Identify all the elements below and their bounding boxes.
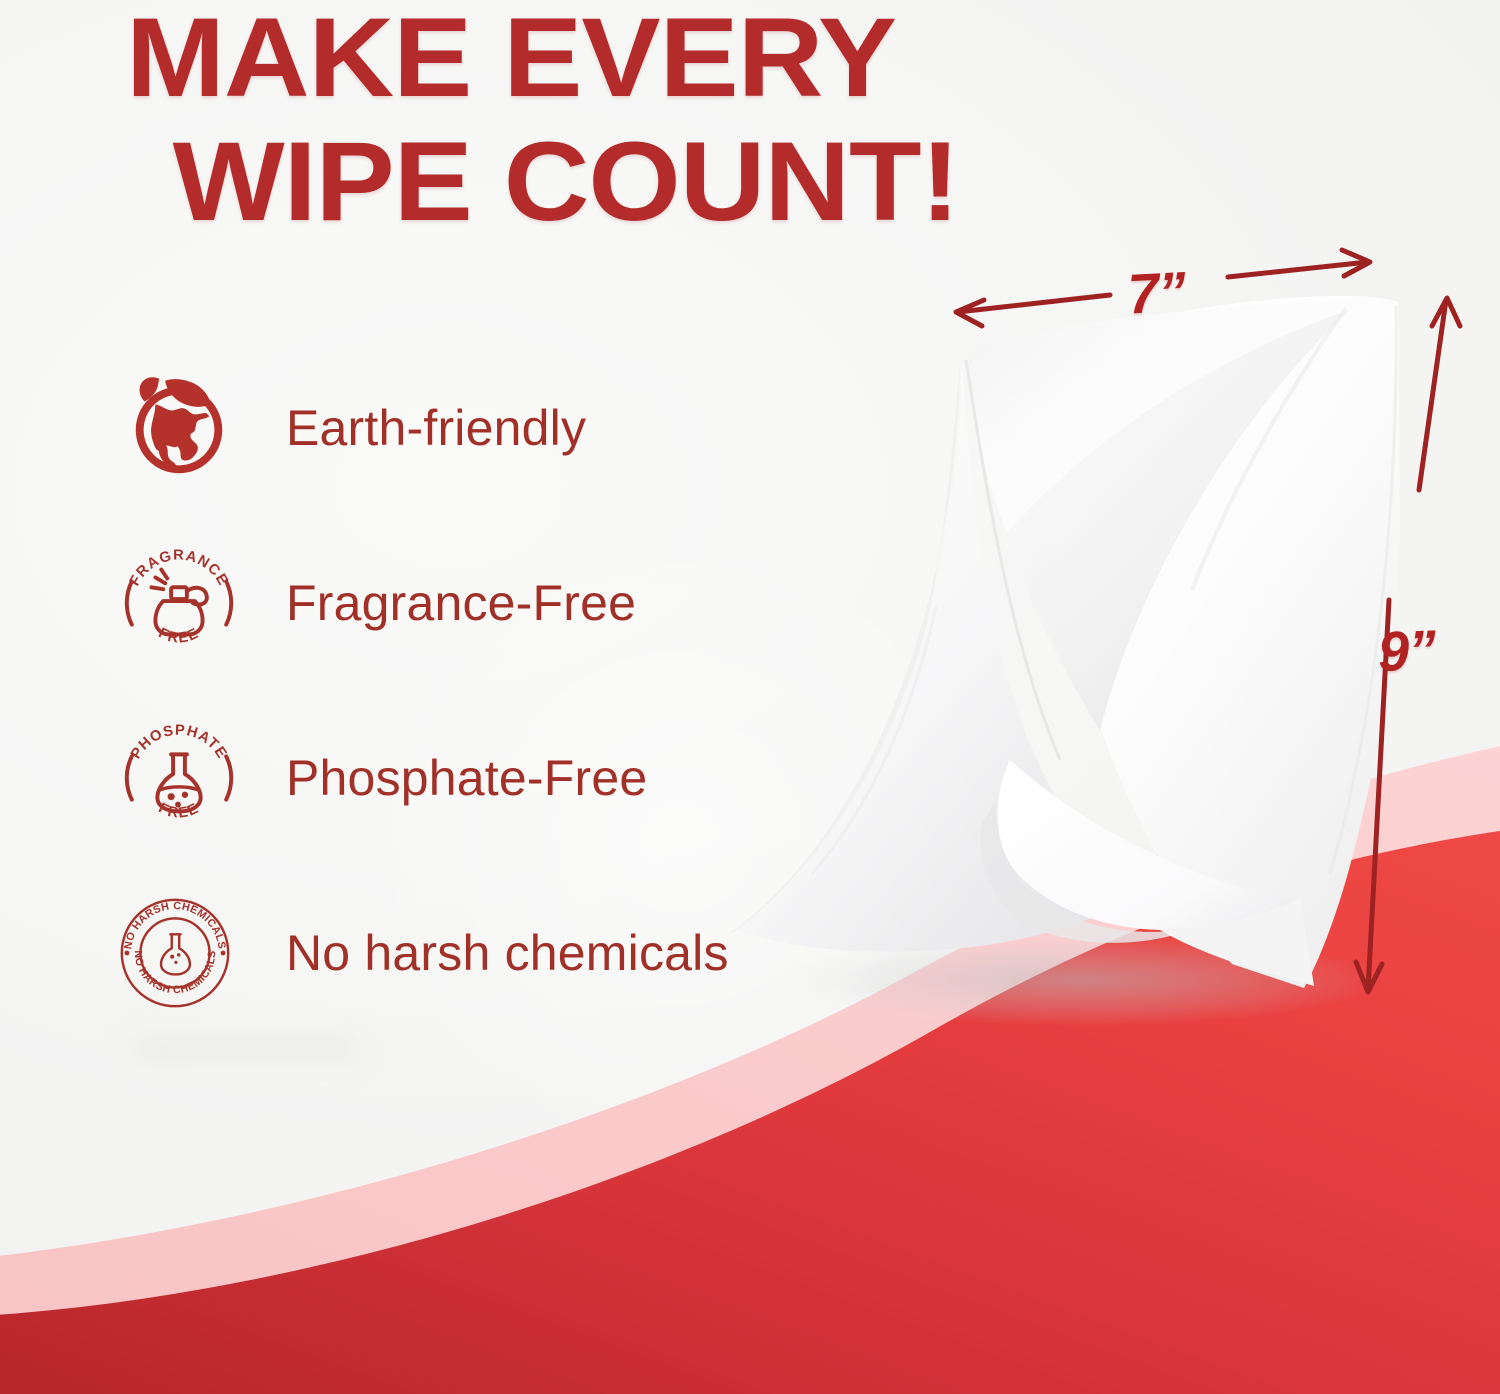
height-dimension-label: 9” (1377, 617, 1436, 684)
feature-label: Phosphate-Free (286, 749, 647, 807)
earth-globe-leaf-icon (116, 365, 241, 490)
stamp-bottom-text: NO HARSH CHEMICALS (132, 950, 218, 996)
feature-item-fragrance-free: FRAGRANCE FREE (116, 515, 876, 690)
svg-text:NO HARSH CHEMICALS: NO HARSH CHEMICALS (122, 900, 228, 950)
feature-item-no-harsh-chemicals: NO HARSH CHEMICALS NO HARSH CHEMICALS (116, 865, 876, 1040)
phosphate-free-badge-icon: PHOSPHATE FREE (116, 715, 241, 840)
product-feature-graphic: MAKE EVERY WIPE COUNT! (0, 0, 1500, 1394)
svg-text:FRAGRANCE: FRAGRANCE (126, 547, 230, 588)
feature-item-phosphate-free: PHOSPHATE FREE (116, 690, 876, 865)
width-dimension-label: 7” (1126, 259, 1186, 327)
badge-top-text: FRAGRANCE (126, 547, 230, 588)
fragrance-free-badge-icon: FRAGRANCE FREE (116, 540, 241, 665)
width-arrow-right (1228, 250, 1370, 277)
no-harsh-chemicals-stamp-icon: NO HARSH CHEMICALS NO HARSH CHEMICALS (116, 894, 234, 1012)
feature-label: Fragrance-Free (286, 574, 636, 632)
feature-item-earth-friendly: Earth-friendly (116, 340, 876, 515)
svg-text:NO HARSH CHEMICALS: NO HARSH CHEMICALS (132, 950, 218, 996)
height-arrow-up (1419, 298, 1460, 490)
feature-label: No harsh chemicals (286, 924, 729, 982)
stamp-top-text: NO HARSH CHEMICALS (122, 900, 228, 950)
width-arrow-left (956, 295, 1110, 326)
feature-label: Earth-friendly (286, 399, 586, 457)
feature-list: Earth-friendly FRAGRANCE (116, 340, 876, 1040)
